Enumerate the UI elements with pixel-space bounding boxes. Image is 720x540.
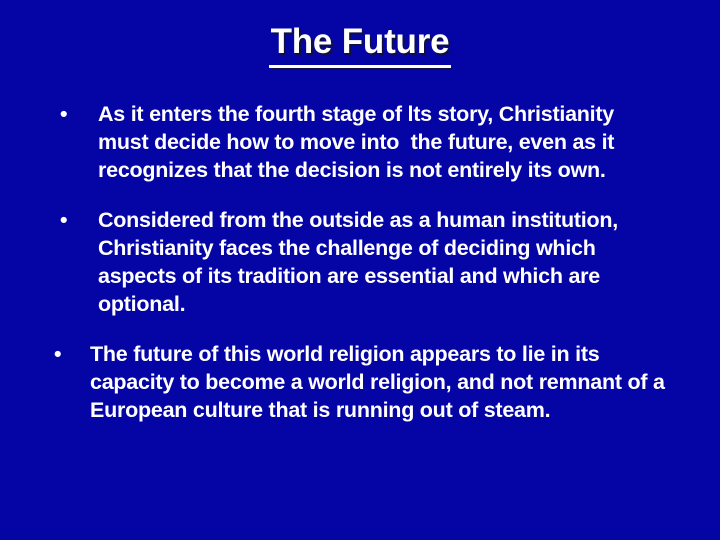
bullet-item-3-text: The future of this world religion appear… — [90, 340, 670, 424]
bullet-item-3: • The future of this world religion appe… — [0, 340, 720, 424]
bullet-item-2-text: Considered from the outside as a human i… — [98, 206, 664, 318]
page-title: The Future — [269, 22, 452, 68]
slide-title-container: The Future — [0, 22, 720, 68]
bullet-item-1-text: As it enters the fourth stage of lts sto… — [98, 100, 664, 184]
slide-body: • As it enters the fourth stage of lts s… — [0, 100, 720, 424]
bullet-point-icon: • — [60, 100, 98, 128]
bullet-point-icon: • — [60, 206, 98, 234]
presentation-slide: The Future • As it enters the fourth sta… — [0, 0, 720, 540]
bullet-item-2: • Considered from the outside as a human… — [0, 206, 720, 318]
bullet-item-1: • As it enters the fourth stage of lts s… — [0, 100, 720, 184]
bullet-point-icon: • — [54, 340, 90, 368]
